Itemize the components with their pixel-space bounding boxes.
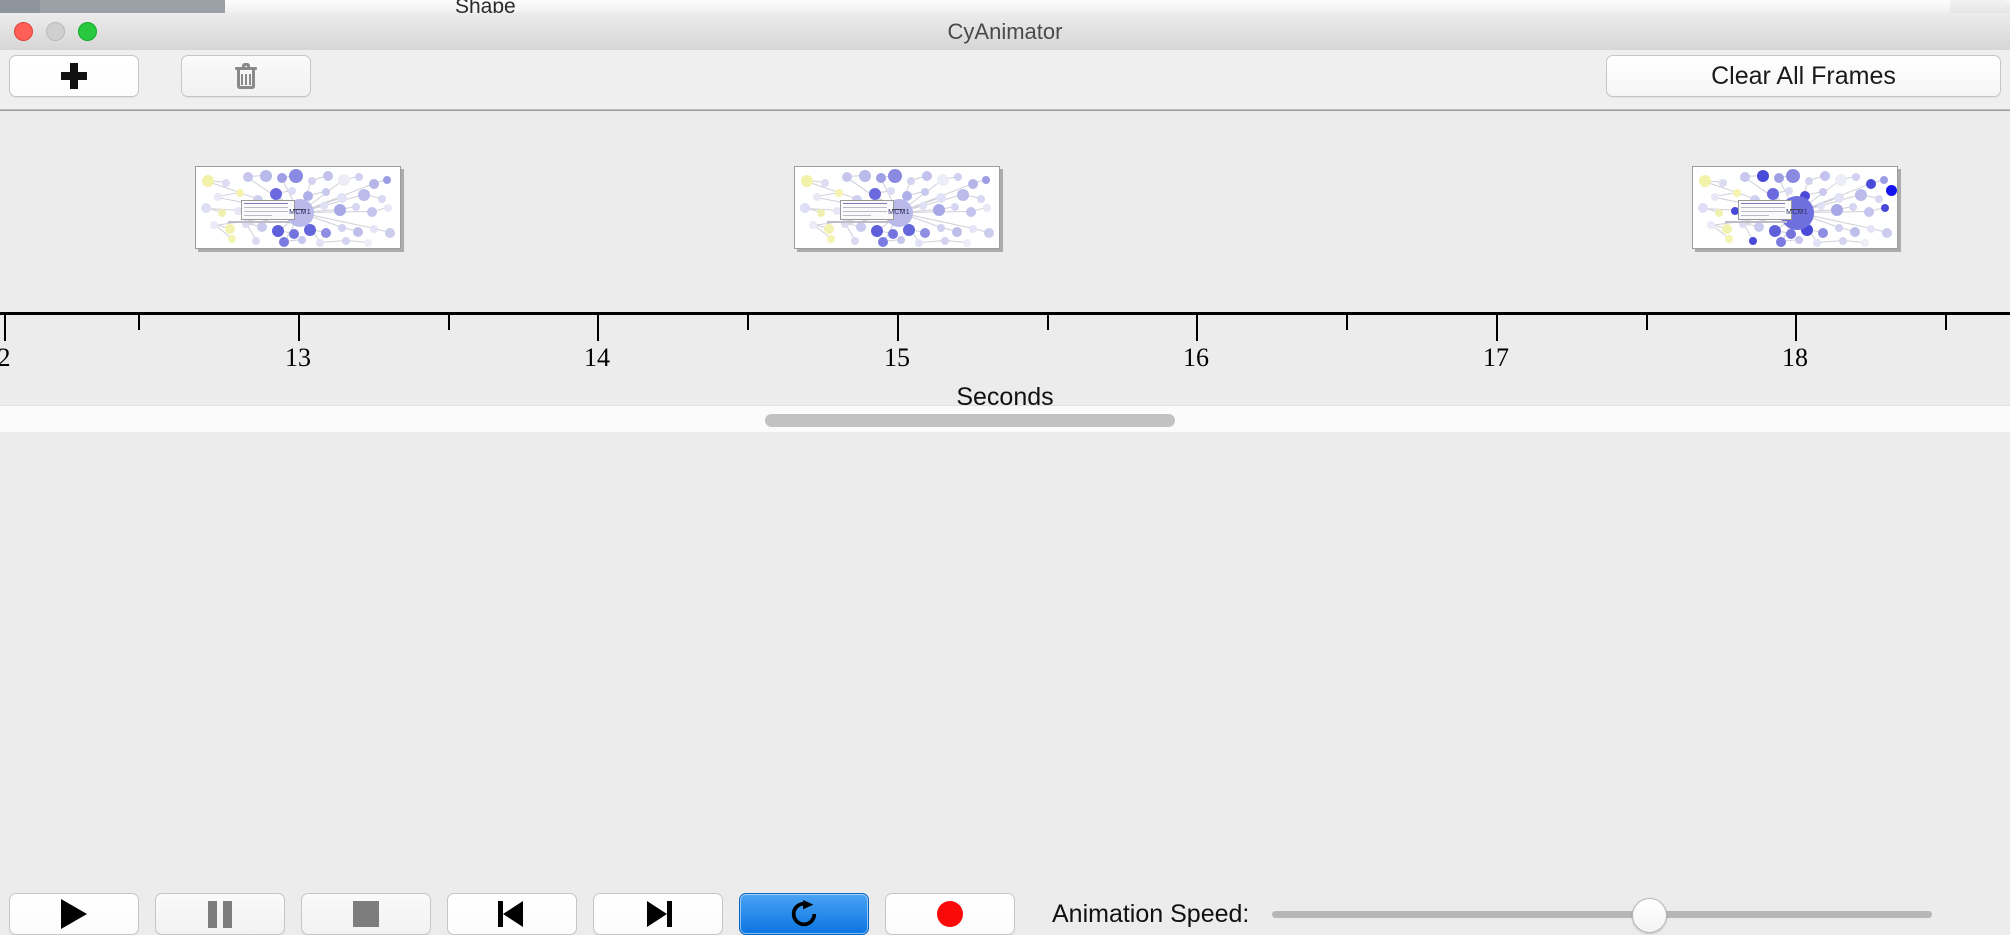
graph-node [856,222,866,232]
tick-major-18 [1795,315,1797,341]
graph-node [1855,189,1867,201]
graph-node [1835,224,1843,232]
cyanimator-window: Shape CyAnimator Clear All Frames 213141… [0,0,2010,510]
graph-hub-label: MCM1 [887,209,911,216]
tick-label-13: 13 [285,343,311,373]
graph-node [1740,172,1750,182]
graph-hub-label: MCM1 [1782,209,1812,216]
graph-node [821,179,829,187]
graph-node [921,188,929,196]
stop-button[interactable] [301,893,431,935]
timeline-axis [0,312,2010,315]
animation-speed-label: Animation Speed: [1052,893,1249,935]
graph-tooltip-line [244,203,288,204]
graph-node [1785,187,1793,195]
graph-node [243,172,253,182]
graph-node-highlight [1886,185,1897,196]
graph-tooltip-line [843,211,887,212]
delete-frame-button[interactable] [181,55,311,97]
play-icon [61,899,87,929]
timeline-frame[interactable]: MCM1 [1692,166,1898,249]
graph-node [298,236,306,244]
graph-node [941,237,949,245]
graph-node [352,203,360,211]
graph-tooltip-line [843,215,871,216]
graph-node [1850,227,1860,237]
graph-node [334,204,346,216]
graph-node [824,224,834,234]
graph-node [218,209,226,217]
tick-minor-3 [1047,315,1049,330]
graph-node [304,224,316,236]
graph-node [1867,225,1875,233]
graph-node [369,179,379,189]
graph-node [1715,209,1723,217]
graph-node [1831,204,1843,216]
skip-back-icon [498,900,526,928]
pause-icon [208,901,232,928]
graph-node [937,224,945,232]
graph-node [316,239,324,247]
stop-icon [353,901,379,927]
graph-node [385,228,395,238]
graph-node [977,195,985,203]
graph-node [378,195,386,203]
graph-node [984,228,994,238]
graph-node [982,176,990,184]
play-button[interactable] [9,893,139,935]
add-frame-button[interactable] [9,55,139,97]
tick-minor-4 [1346,315,1348,330]
graph-node [1725,235,1733,243]
tick-label-12: 2 [0,343,11,373]
graph-node [1864,207,1874,217]
graph-node [323,171,333,181]
graph-node [813,193,821,201]
graph-node [1776,237,1786,247]
graph-node [920,228,930,238]
graph-node [919,202,927,210]
graph-node [358,189,370,201]
tick-major-17 [1496,315,1498,341]
graph-node [842,172,852,182]
graph-node [338,224,346,232]
skip-forward-icon [644,900,672,928]
graph-node [887,187,895,195]
graph-node [236,189,244,197]
graph-node [222,179,230,187]
graph-node [871,225,883,237]
tick-major-14 [597,315,599,341]
loop-icon [789,899,819,929]
graph-node [270,188,282,200]
graph-node [384,204,392,212]
graph-node [1767,188,1779,200]
loop-button[interactable] [739,893,869,935]
graph-node [1813,239,1821,247]
graph-node [1839,237,1847,245]
graph-node [321,228,331,238]
tick-label-15: 15 [884,343,910,373]
graph-node [322,188,330,196]
graph-node [907,177,915,185]
graph-node [835,189,843,197]
graph-tooltip-line [244,207,288,208]
graph-node [288,187,296,195]
graph-node [1880,176,1888,184]
graph-node [210,221,218,229]
graph-node [859,170,871,182]
network-graph: MCM1 [795,167,999,248]
tick-minor-0 [138,315,140,330]
tick-minor-6 [1945,315,1947,330]
graph-node [225,224,235,234]
network-graph: MCM1 [1693,167,1897,248]
graph-tooltip-line [843,203,887,204]
skip-forward-button[interactable] [593,893,723,935]
graph-node [933,204,945,216]
graph-node [809,221,817,229]
graph-node [1875,195,1883,203]
timeline-axis-label: Seconds [0,383,2010,406]
graph-node [876,173,886,183]
graph-node [1820,171,1830,181]
graph-node [1786,169,1800,183]
record-icon [937,901,963,927]
graph-node [337,193,347,203]
graph-node [963,239,971,247]
graph-node [308,177,316,185]
graph-node [1881,204,1889,212]
graph-tooltip-line [1741,207,1785,208]
graph-node [1866,179,1876,189]
graph-node [1834,193,1844,203]
graph-node [1699,175,1711,187]
graph-node [954,173,962,181]
graph-node [827,235,835,243]
graph-node [897,236,905,244]
graph-tooltip-line [1741,215,1769,216]
graph-node [952,227,962,237]
graph-node [214,193,222,201]
clear-all-frames-button[interactable]: Clear All Frames [1606,55,2001,97]
graph-node [353,227,363,237]
tick-label-16: 16 [1183,343,1209,373]
graph-node [1819,188,1827,196]
graph-tooltip-line [1741,203,1785,204]
tick-minor-1 [448,315,450,330]
playback-bar: Animation Speed: [0,432,2010,510]
graph-node [951,203,959,211]
clear-all-frames-label: Clear All Frames [1711,62,1896,91]
animation-speed-slider-thumb[interactable] [1632,898,1667,933]
tick-major-15 [897,315,899,341]
graph-tooltip-line [244,215,272,216]
pause-button[interactable] [155,893,285,935]
graph-node [257,222,267,232]
graph-node [817,209,825,217]
graph-node [1861,239,1869,247]
graph-node [922,171,932,181]
trash-icon [235,63,257,89]
graph-node [888,169,902,183]
graph-node [1719,179,1727,187]
record-button[interactable] [885,893,1015,935]
graph-node [1882,228,1892,238]
graph-node [1817,202,1825,210]
plus-icon [61,63,87,89]
graph-node [367,207,377,217]
graph-node [1733,189,1741,197]
tick-label-18: 18 [1782,343,1808,373]
graph-node [1774,173,1784,183]
graph-node [1835,174,1847,186]
tick-major-16 [1196,315,1198,341]
graph-node [800,203,810,213]
graph-node [1711,193,1719,201]
graph-node [936,193,946,203]
skip-back-button[interactable] [447,893,577,935]
graph-node [1698,203,1708,213]
graph-node [1754,222,1764,232]
graph-node [937,174,949,186]
tick-major-13 [298,315,300,341]
graph-node [228,235,236,243]
tick-label-17: 17 [1483,343,1509,373]
graph-caption [228,221,290,223]
graph-node [201,203,211,213]
graph-tooltip-line [244,211,288,212]
graph-node [957,189,969,201]
graph-node [1707,221,1715,229]
graph-node [1749,237,1757,245]
graph-node [1849,203,1857,211]
graph-node [903,224,915,236]
graph-node [272,225,284,237]
graph-node [1805,177,1813,185]
graph-node [252,237,260,245]
animation-speed-slider-track[interactable] [1272,911,1932,918]
tick-label-14: 14 [584,343,610,373]
timeline-frame[interactable]: MCM1 [195,166,401,249]
tick-minor-5 [1646,315,1648,330]
graph-node [1769,225,1781,237]
tick-major-12 [4,315,6,341]
graph-node [869,188,881,200]
graph-caption [827,221,889,223]
graph-node [801,175,813,187]
graph-node [968,179,978,189]
graph-node [202,175,214,187]
graph-node [320,202,328,210]
graph-node [969,225,977,233]
timeline-frame[interactable]: MCM1 [794,166,1000,249]
graph-node [1722,224,1732,234]
graph-node [1757,170,1769,182]
graph-node [983,204,991,212]
tick-minor-2 [747,315,749,330]
graph-node [878,237,888,247]
graph-caption [1725,221,1787,223]
window-title: CyAnimator [0,13,2010,50]
graph-node [342,237,350,245]
graph-node [1852,173,1860,181]
graph-tooltip-line [1741,211,1785,212]
graph-node [383,176,391,184]
graph-node [1818,228,1828,238]
graph-node [370,225,378,233]
graph-node [338,174,350,186]
graph-tooltip-line [843,207,887,208]
graph-node [966,207,976,217]
graph-node [260,170,272,182]
graph-node [289,169,303,183]
timeline-scrollbar-thumb[interactable] [765,414,1175,427]
network-graph: MCM1 [196,167,400,248]
graph-node [279,237,289,247]
graph-node [1795,236,1803,244]
graph-node [364,239,372,247]
graph-node [915,239,923,247]
graph-node [355,173,363,181]
timeline-panel[interactable]: 2131415161718 MCM1MCM1MCM1 Seconds [0,110,2010,406]
graph-node [277,173,287,183]
graph-node [851,237,859,245]
graph-hub-label: MCM1 [288,209,312,216]
